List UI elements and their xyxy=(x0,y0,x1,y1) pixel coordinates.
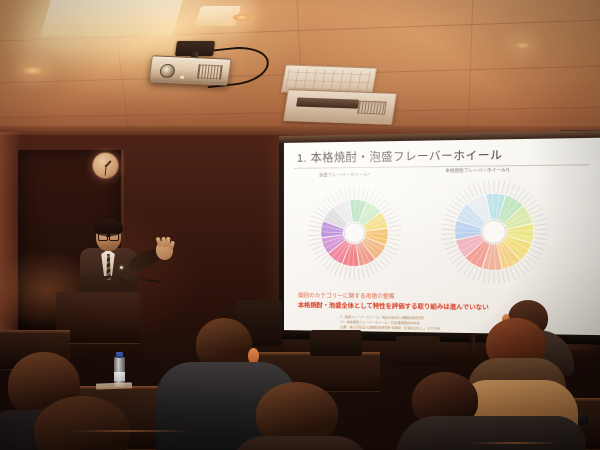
ceiling xyxy=(0,0,600,132)
eyeglasses-icon xyxy=(98,233,119,239)
audience-member xyxy=(430,372,580,450)
audience-table-edge xyxy=(0,330,70,333)
presenter-hand-gesture xyxy=(156,241,173,260)
projector-icon xyxy=(149,55,232,85)
flavor-wheel-awamori xyxy=(302,180,408,286)
presenter-lapel-pin xyxy=(120,266,123,269)
presentation-room-photo: 1. 本格焼酎・泡盛フレーバーホイール 泡盛フレーバーホイール* 本格焼酎フレー… xyxy=(0,0,600,450)
projector-lens-icon xyxy=(159,64,176,79)
chair-back xyxy=(396,336,440,366)
slide-message-line1: 個別のカテゴリーに関する用語の整備 xyxy=(298,291,394,300)
slide-message-line2: 本格焼酎・泡盛全体として特性を評価する取り組みは進んでいない xyxy=(298,300,489,311)
microphone-icon xyxy=(118,277,125,282)
audience-head xyxy=(34,396,130,450)
left-wheel-caption: 泡盛フレーバーホイール* xyxy=(319,172,370,179)
projector-status-led xyxy=(180,76,184,79)
audience-torso xyxy=(230,436,370,450)
ceiling-light-panel-icon xyxy=(40,0,185,36)
downlight-icon xyxy=(22,66,44,75)
wall-clock-icon xyxy=(92,152,119,179)
audience-torso xyxy=(396,416,586,450)
downlight-icon xyxy=(233,14,250,21)
ceiling-air-conditioner-icon xyxy=(283,89,397,125)
chair-back xyxy=(310,330,362,356)
slide-title: 1. 本格焼酎・泡盛フレーバーホイール xyxy=(297,147,503,166)
audience-member xyxy=(34,396,154,450)
downlight-icon xyxy=(515,42,530,49)
audience-member xyxy=(240,382,360,450)
projector-vent xyxy=(197,64,223,79)
flavor-wheel-shochu xyxy=(435,173,554,290)
